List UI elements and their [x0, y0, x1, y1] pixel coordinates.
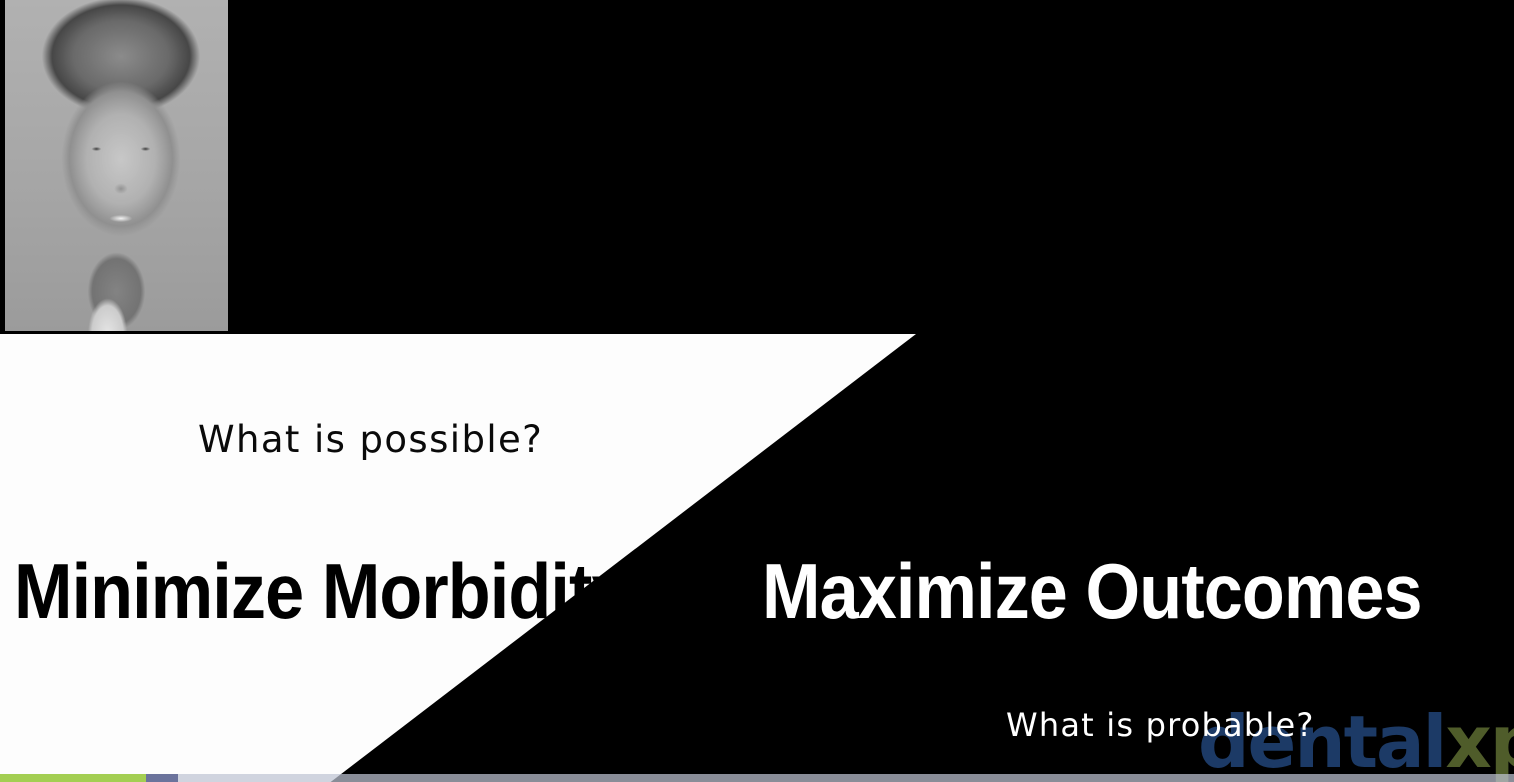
question-possible-text: What is possible?: [198, 418, 543, 461]
headline-maximize-outcomes: Maximize Outcomes: [762, 548, 1422, 634]
video-slide-frame: What is possible? Minimize Morbidity Max…: [0, 0, 1514, 782]
presenter-photo-image: [5, 0, 228, 331]
headline-minimize-morbidity: Minimize Morbidity: [14, 548, 630, 634]
video-progress-buffer: [146, 774, 178, 782]
watermark-xp-text: xp: [1445, 700, 1514, 782]
video-progress-played: [0, 774, 146, 782]
video-progress-bar[interactable]: [0, 774, 1514, 782]
question-probable-text: What is probable?: [1006, 706, 1315, 744]
presenter-portrait: [5, 0, 228, 331]
